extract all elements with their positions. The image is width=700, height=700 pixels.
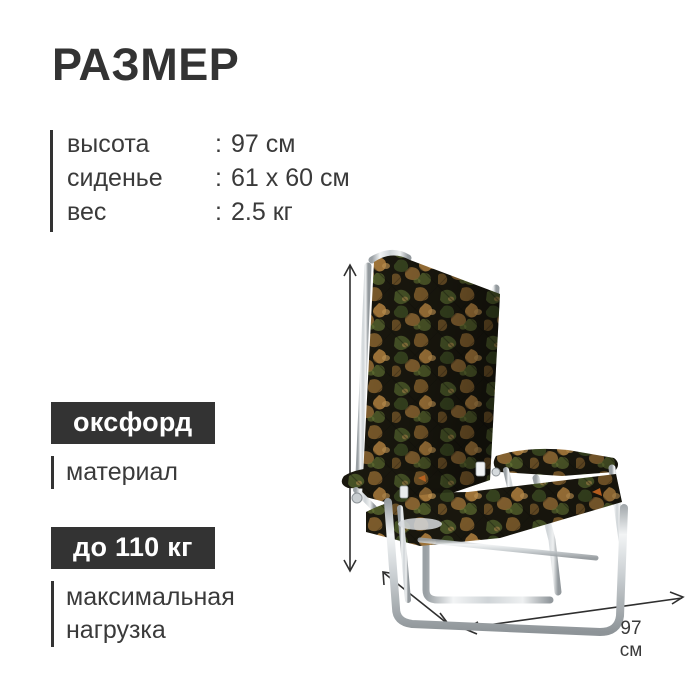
spec-label-weight: вес bbox=[67, 198, 215, 227]
dimension-label-height: 97 см bbox=[616, 618, 646, 662]
caption-material: материал bbox=[51, 456, 215, 489]
badge-material: оксфорд bbox=[51, 402, 215, 444]
spec-value-weight: 2.5 кг bbox=[231, 198, 293, 227]
product-infographic: РАЗМЕР высота : 97 см сиденье : 61 x 60 … bbox=[0, 0, 700, 700]
feature-max-load: до 110 кг максимальная нагрузка bbox=[51, 527, 235, 647]
product-figure: 97 см 60 см 61 см bbox=[300, 240, 700, 660]
spec-row: вес : 2.5 кг bbox=[67, 198, 350, 232]
feature-material: оксфорд материал bbox=[51, 402, 215, 489]
chair-illustration bbox=[342, 253, 624, 632]
spec-separator: : bbox=[215, 130, 231, 159]
page-title: РАЗМЕР bbox=[52, 42, 239, 87]
caption-max-load: максимальная нагрузка bbox=[51, 581, 235, 647]
spec-separator: : bbox=[215, 198, 231, 227]
specs-list: высота : 97 см сиденье : 61 x 60 см вес … bbox=[50, 130, 350, 232]
spec-value-seat: 61 x 60 см bbox=[231, 164, 350, 193]
spec-label-height: высота bbox=[67, 130, 215, 159]
spec-label-seat: сиденье bbox=[67, 164, 215, 193]
badge-max-load: до 110 кг bbox=[51, 527, 215, 569]
spec-separator: : bbox=[215, 164, 231, 193]
spec-row: высота : 97 см bbox=[67, 130, 350, 164]
spec-value-height: 97 см bbox=[231, 130, 295, 159]
spec-row: сиденье : 61 x 60 см bbox=[67, 164, 350, 198]
